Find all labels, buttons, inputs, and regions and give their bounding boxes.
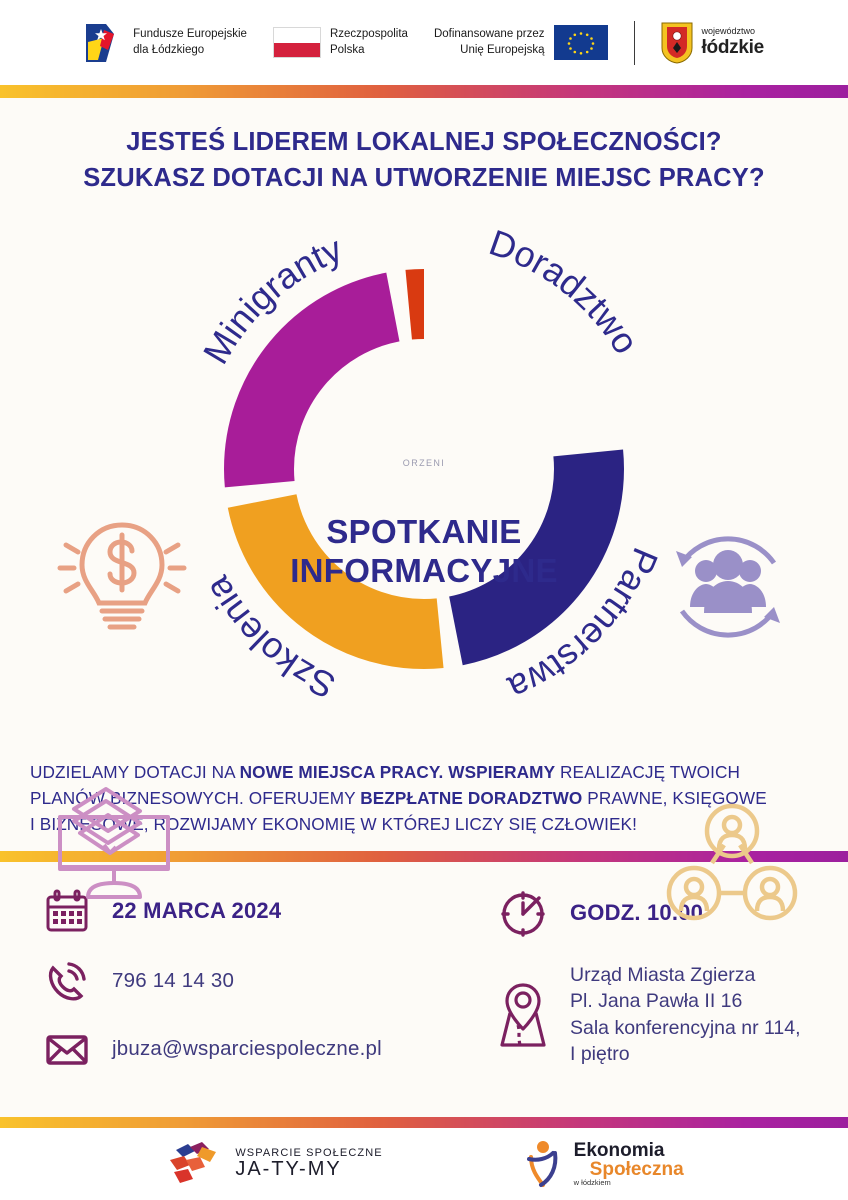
envelope-icon — [44, 1026, 90, 1072]
body-text-bold: BEZPŁATNE DORADZTWO — [360, 788, 582, 808]
contact-email-row[interactable]: jbuza@wsparciespoleczne.pl — [44, 1026, 462, 1072]
lodzkie-coat-of-arms-icon — [661, 22, 693, 64]
ekonomia-line-2: Społeczna — [590, 1160, 684, 1179]
people-cycle-icon — [662, 521, 794, 653]
flag-white-stripe — [274, 28, 320, 43]
fundusze-europejskie-icon — [84, 20, 124, 66]
ekonomia-text: Ekonomia Społeczna w łódzkiem — [574, 1141, 684, 1187]
address-line-4: I piętro — [570, 1041, 801, 1067]
address-line-2: Pl. Jana Pawła II 16 — [570, 988, 801, 1014]
monitor-books-icon — [44, 771, 184, 911]
people-network-icon — [664, 801, 799, 933]
lightbulb-dollar-icon — [52, 505, 192, 645]
logo-line-1: Fundusze Europejskie — [133, 27, 247, 42]
logo-line-2: łódzkie — [702, 37, 764, 59]
logo-line-2: dla Łódzkiego — [133, 43, 247, 58]
fundusze-europejskie-text: Fundusze Europejskie dla Łódzkiego — [133, 27, 247, 57]
ekonomia-line-1: Ekonomia — [574, 1140, 665, 1161]
center-line-1: SPOTKANIE — [290, 513, 558, 552]
ekonomia-spoleczna-mark-icon — [523, 1139, 565, 1189]
page-title: JESTEŚ LIDEREM LOKALNEJ SPOŁECZNOŚCI? SZ… — [0, 98, 848, 213]
donut-chart: Minigranty Doradztwo Partnerstwa Szkolen… — [144, 219, 704, 739]
polish-flag-icon — [273, 27, 321, 58]
clock-icon — [498, 888, 548, 938]
center-watermark: ORZENI — [403, 458, 445, 468]
lodzkie-text: województwo łódzkie — [702, 26, 764, 58]
donut-chart-section: Minigranty Doradztwo Partnerstwa Szkolen… — [0, 213, 848, 753]
flag-red-stripe — [274, 43, 320, 58]
ja-ty-my-mark-icon — [164, 1140, 226, 1188]
contact-phone-row[interactable]: 796 14 14 30 — [44, 958, 462, 1004]
logo-wojewodztwo-lodzkie: województwo łódzkie — [661, 22, 764, 64]
event-address: Urząd Miasta Zgierza Pl. Jana Pawła II 1… — [570, 962, 801, 1067]
donut-center-title: SPOTKANIE INFORMACYJNE — [290, 513, 558, 591]
address-line-3: Sala konferencyjna nr 114, — [570, 1015, 801, 1041]
contact-column-left: 22 MARCA 2024 796 14 14 30 — [44, 888, 462, 1072]
logo-line-2: Unię Europejską — [434, 43, 545, 58]
headline-line-1: JESTEŚ LIDEREM LOKALNEJ SPOŁECZNOŚCI? — [20, 124, 828, 160]
headline-line-2: SZUKASZ DOTACJI NA UTWORZENIE MIEJSC PRA… — [20, 160, 828, 196]
gradient-bar-top — [0, 85, 848, 98]
logo-fundusze-europejskie: Fundusze Europejskie dla Łódzkiego — [84, 20, 247, 66]
gradient-bar-bottom — [0, 1117, 848, 1128]
body-text-bold: NOWE MIEJSCA PRACY. WSPIERAMY — [240, 762, 556, 782]
map-pin-icon — [498, 979, 548, 1051]
logo-ekonomia-spoleczna: Ekonomia Społeczna w łódzkiem — [523, 1139, 684, 1189]
ja-ty-my-text: WSPARCIE SPOŁECZNE JA-TY-MY — [235, 1148, 382, 1181]
center-line-2: INFORMACYJNE — [290, 552, 558, 591]
dofinansowane-text: Dofinansowane przez Unię Europejską — [434, 27, 545, 57]
poster: Fundusze Europejskie dla Łódzkiego Rzecz… — [0, 0, 848, 1200]
logo-line-1: Dofinansowane przez — [434, 27, 545, 42]
phone-icon — [44, 958, 90, 1004]
logo-line-2: Polska — [330, 43, 408, 58]
logo-ja-ty-my: WSPARCIE SPOŁECZNE JA-TY-MY — [164, 1140, 382, 1188]
header-logo-bar: Fundusze Europejskie dla Łódzkiego Rzecz… — [0, 0, 848, 85]
logo-dofinansowane-ue: Dofinansowane przez Unię Europejską — [434, 25, 608, 60]
jatymy-line-2: JA-TY-MY — [235, 1159, 382, 1180]
email-address: jbuza@wsparciespoleczne.pl — [112, 1037, 382, 1061]
header-divider — [634, 21, 635, 65]
ekonomia-line-3: w łódzkiem — [574, 1179, 684, 1187]
phone-number: 796 14 14 30 — [112, 969, 234, 993]
footer-logo-bar: WSPARCIE SPOŁECZNE JA-TY-MY Ekonomia Spo… — [0, 1128, 848, 1200]
donut-label-doradztwo: Doradztwo — [484, 221, 647, 360]
logo-line-1: województwo — [702, 26, 764, 36]
contact-address-row: Urząd Miasta Zgierza Pl. Jana Pawła II 1… — [498, 962, 801, 1067]
body-text-part: REALIZACJĘ TWOICH — [555, 762, 740, 782]
logo-rzeczpospolita-polska: Rzeczpospolita Polska — [273, 27, 408, 58]
address-line-1: Urząd Miasta Zgierza — [570, 962, 801, 988]
eu-flag-icon — [554, 25, 608, 60]
rzeczpospolita-text: Rzeczpospolita Polska — [330, 27, 408, 57]
logo-line-1: Rzeczpospolita — [330, 27, 408, 42]
